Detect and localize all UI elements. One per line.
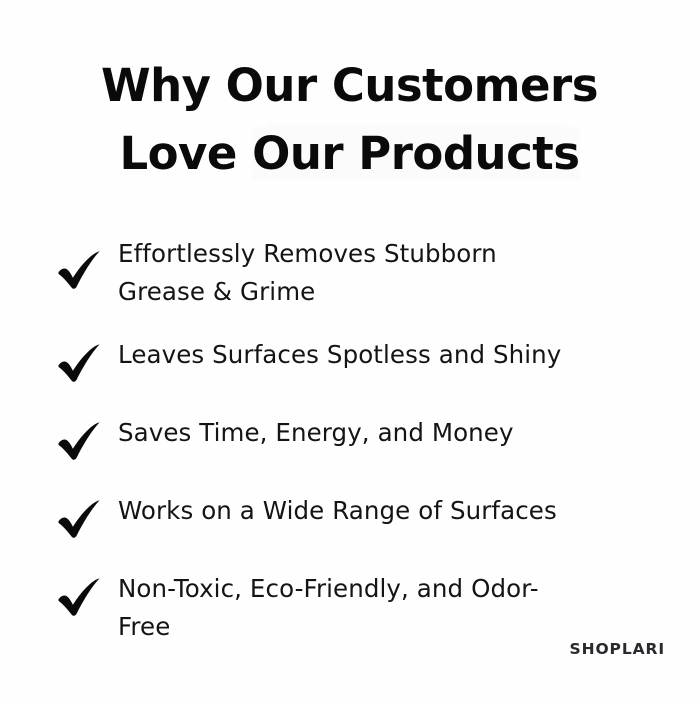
list-item: Saves Time, Energy, and Money bbox=[56, 411, 669, 463]
list-item-label: Non-Toxic, Eco-Friendly, and Odor-Free bbox=[118, 567, 588, 646]
page-title: Why Our Customers Love Our Products bbox=[0, 52, 699, 188]
list-item: Non-Toxic, Eco-Friendly, and Odor-Free bbox=[56, 567, 669, 646]
list-item: Effortlessly Removes Stubborn Grease & G… bbox=[56, 232, 669, 311]
page-title-line-2-part-b: Our Products bbox=[252, 127, 579, 180]
list-item-label: Leaves Surfaces Spotless and Shiny bbox=[118, 333, 561, 374]
check-icon bbox=[56, 419, 102, 463]
check-icon bbox=[56, 341, 102, 385]
benefit-list: Effortlessly Removes Stubborn Grease & G… bbox=[56, 232, 669, 646]
list-item-label: Effortlessly Removes Stubborn Grease & G… bbox=[118, 232, 588, 311]
list-item: Leaves Surfaces Spotless and Shiny bbox=[56, 333, 669, 385]
list-item-label: Saves Time, Energy, and Money bbox=[118, 411, 514, 452]
promo-poster: Why Our Customers Love Our Products Effo… bbox=[0, 0, 699, 705]
check-icon bbox=[56, 497, 102, 541]
list-item: Works on a Wide Range of Surfaces bbox=[56, 489, 669, 541]
list-item-label: Works on a Wide Range of Surfaces bbox=[118, 489, 557, 530]
page-title-line-2: Love Our Products bbox=[0, 120, 699, 188]
page-title-line-1: Why Our Customers bbox=[0, 52, 699, 120]
page-title-line-2-part-a: Love bbox=[119, 127, 252, 180]
brand-logo: SHOPLARI bbox=[570, 640, 665, 658]
check-icon bbox=[56, 575, 102, 619]
check-icon bbox=[56, 248, 102, 292]
